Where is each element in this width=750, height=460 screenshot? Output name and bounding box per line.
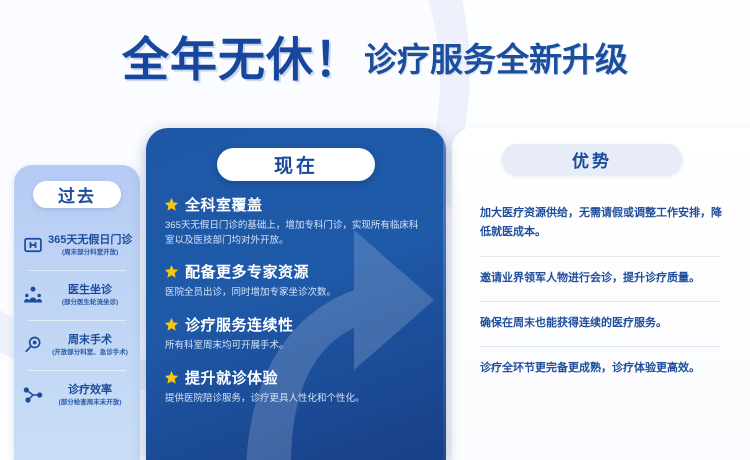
efficiency-node-icon	[22, 384, 44, 406]
advantage-item-text: 邀请业界领军人物进行会诊，提升诊疗质量。	[480, 269, 726, 288]
now-item-list: 全科室覆盖 365天无假日门诊的基础上，增加专科门诊，实现所有临床科室以及医技部…	[164, 194, 432, 420]
now-list-item[interactable]: 全科室覆盖 365天无假日门诊的基础上，增加专科门诊，实现所有临床科室以及医技部…	[164, 194, 432, 248]
past-item-title: 周末手术	[48, 334, 132, 347]
advantage-item-list: 加大医疗资源供给，无需请假或调整工作安排，降低就医成本。 邀请业界领军人物进行会…	[480, 191, 726, 391]
advantage-item-text: 确保在周末也能获得连续的医疗服务。	[480, 314, 726, 333]
advantage-panel: 优势 加大医疗资源供给，无需请假或调整工作安排，降低就医成本。 邀请业界领军人物…	[452, 128, 750, 460]
past-list-item[interactable]: 诊疗效率 (部分检查周末未开放)	[14, 370, 140, 420]
infographic-canvas: 全年无休！ 诊疗服务全新升级 过去 365天无假日门诊 (周末部分科室开放)	[0, 0, 750, 460]
advantage-list-item[interactable]: 确保在周末也能获得连续的医疗服务。	[480, 301, 726, 346]
past-item-note: (部分医生轮流坐诊)	[48, 299, 132, 306]
now-panel-title-pill: 现在	[217, 148, 375, 181]
advantage-list-item[interactable]: 邀请业界领军人物进行会诊，提升诊疗质量。	[480, 256, 726, 301]
page-title-main: 全年无休！	[122, 36, 362, 83]
past-item-note: (部分检查周末未开放)	[48, 399, 132, 406]
past-list-item[interactable]: 周末手术 (开放部分科室、急诊手术)	[14, 320, 140, 370]
past-item-title: 医生坐诊	[48, 284, 132, 297]
now-item-head: 提升就诊体验	[164, 367, 432, 388]
now-list-item[interactable]: 提升就诊体验 提供医院陪诊服务，诊疗更具人性化和个性化。	[164, 367, 432, 407]
page-title-sub: 诊疗服务全新升级	[364, 43, 628, 76]
past-item-note: (开放部分科室、急诊手术)	[48, 349, 132, 356]
past-item-title: 365天无假日门诊	[48, 234, 132, 247]
advantage-list-item[interactable]: 加大医疗资源供给，无需请假或调整工作安排，降低就医成本。	[480, 191, 726, 256]
now-item-title: 诊疗服务连续性	[185, 314, 294, 335]
page-header: 全年无休！ 诊疗服务全新升级	[0, 28, 750, 90]
advantage-panel-title-pill: 优势	[502, 144, 682, 174]
now-list-item[interactable]: 配备更多专家资源 医院全员出诊，同时增加专家坐诊次数。	[164, 261, 432, 301]
now-item-head: 诊疗服务连续性	[164, 314, 432, 335]
doctor-people-icon	[22, 284, 44, 306]
past-panel: 过去 365天无假日门诊 (周末部分科室开放)	[14, 165, 140, 460]
star-icon	[164, 317, 179, 332]
advantage-item-text: 诊疗全环节更完备更成熟，诊疗体验更高效。	[480, 359, 726, 378]
now-item-desc: 365天无假日门诊的基础上，增加专科门诊，实现所有临床科室以及医技部门均对外开放…	[165, 219, 423, 248]
past-item-texts: 医生坐诊 (部分医生轮流坐诊)	[48, 284, 132, 306]
past-list-item[interactable]: 365天无假日门诊 (周末部分科室开放)	[14, 220, 140, 270]
now-item-title: 提升就诊体验	[185, 367, 278, 388]
past-list-item[interactable]: 医生坐诊 (部分医生轮流坐诊)	[14, 270, 140, 320]
past-item-texts: 诊疗效率 (部分检查周末未开放)	[48, 384, 132, 406]
past-item-title: 诊疗效率	[48, 384, 132, 397]
now-item-title: 配备更多专家资源	[185, 261, 309, 282]
past-item-texts: 周末手术 (开放部分科室、急诊手术)	[48, 334, 132, 356]
star-icon	[164, 197, 179, 212]
past-panel-title-pill: 过去	[33, 181, 121, 208]
star-icon	[164, 370, 179, 385]
surgery-lamp-icon	[22, 334, 44, 356]
advantage-panel-title: 优势	[572, 147, 612, 172]
past-item-note: (周末部分科室开放)	[48, 249, 132, 256]
now-item-head: 全科室覆盖	[164, 194, 432, 215]
now-item-desc: 所有科室周末均可开展手术。	[165, 339, 423, 354]
star-icon	[164, 264, 179, 279]
past-panel-title: 过去	[58, 182, 96, 207]
now-item-head: 配备更多专家资源	[164, 261, 432, 282]
now-item-title: 全科室覆盖	[185, 194, 263, 215]
now-panel-title: 现在	[274, 151, 318, 178]
advantage-item-text: 加大医疗资源供给，无需请假或调整工作安排，降低就医成本。	[480, 204, 726, 243]
now-list-item[interactable]: 诊疗服务连续性 所有科室周末均可开展手术。	[164, 314, 432, 354]
now-panel: 现在 全科室覆盖 365天无假日门诊的基础上，增加专科门诊，实现所有临床科室以及…	[146, 128, 446, 460]
past-item-list: 365天无假日门诊 (周末部分科室开放) 医生坐诊	[14, 220, 140, 420]
now-item-desc: 提供医院陪诊服务，诊疗更具人性化和个性化。	[165, 392, 423, 407]
now-item-desc: 医院全员出诊，同时增加专家坐诊次数。	[165, 286, 423, 301]
now-panel-edge-highlight	[443, 128, 446, 460]
advantage-list-item[interactable]: 诊疗全环节更完备更成熟，诊疗体验更高效。	[480, 346, 726, 391]
hospital-h-icon	[22, 234, 44, 256]
past-item-texts: 365天无假日门诊 (周末部分科室开放)	[48, 234, 132, 256]
